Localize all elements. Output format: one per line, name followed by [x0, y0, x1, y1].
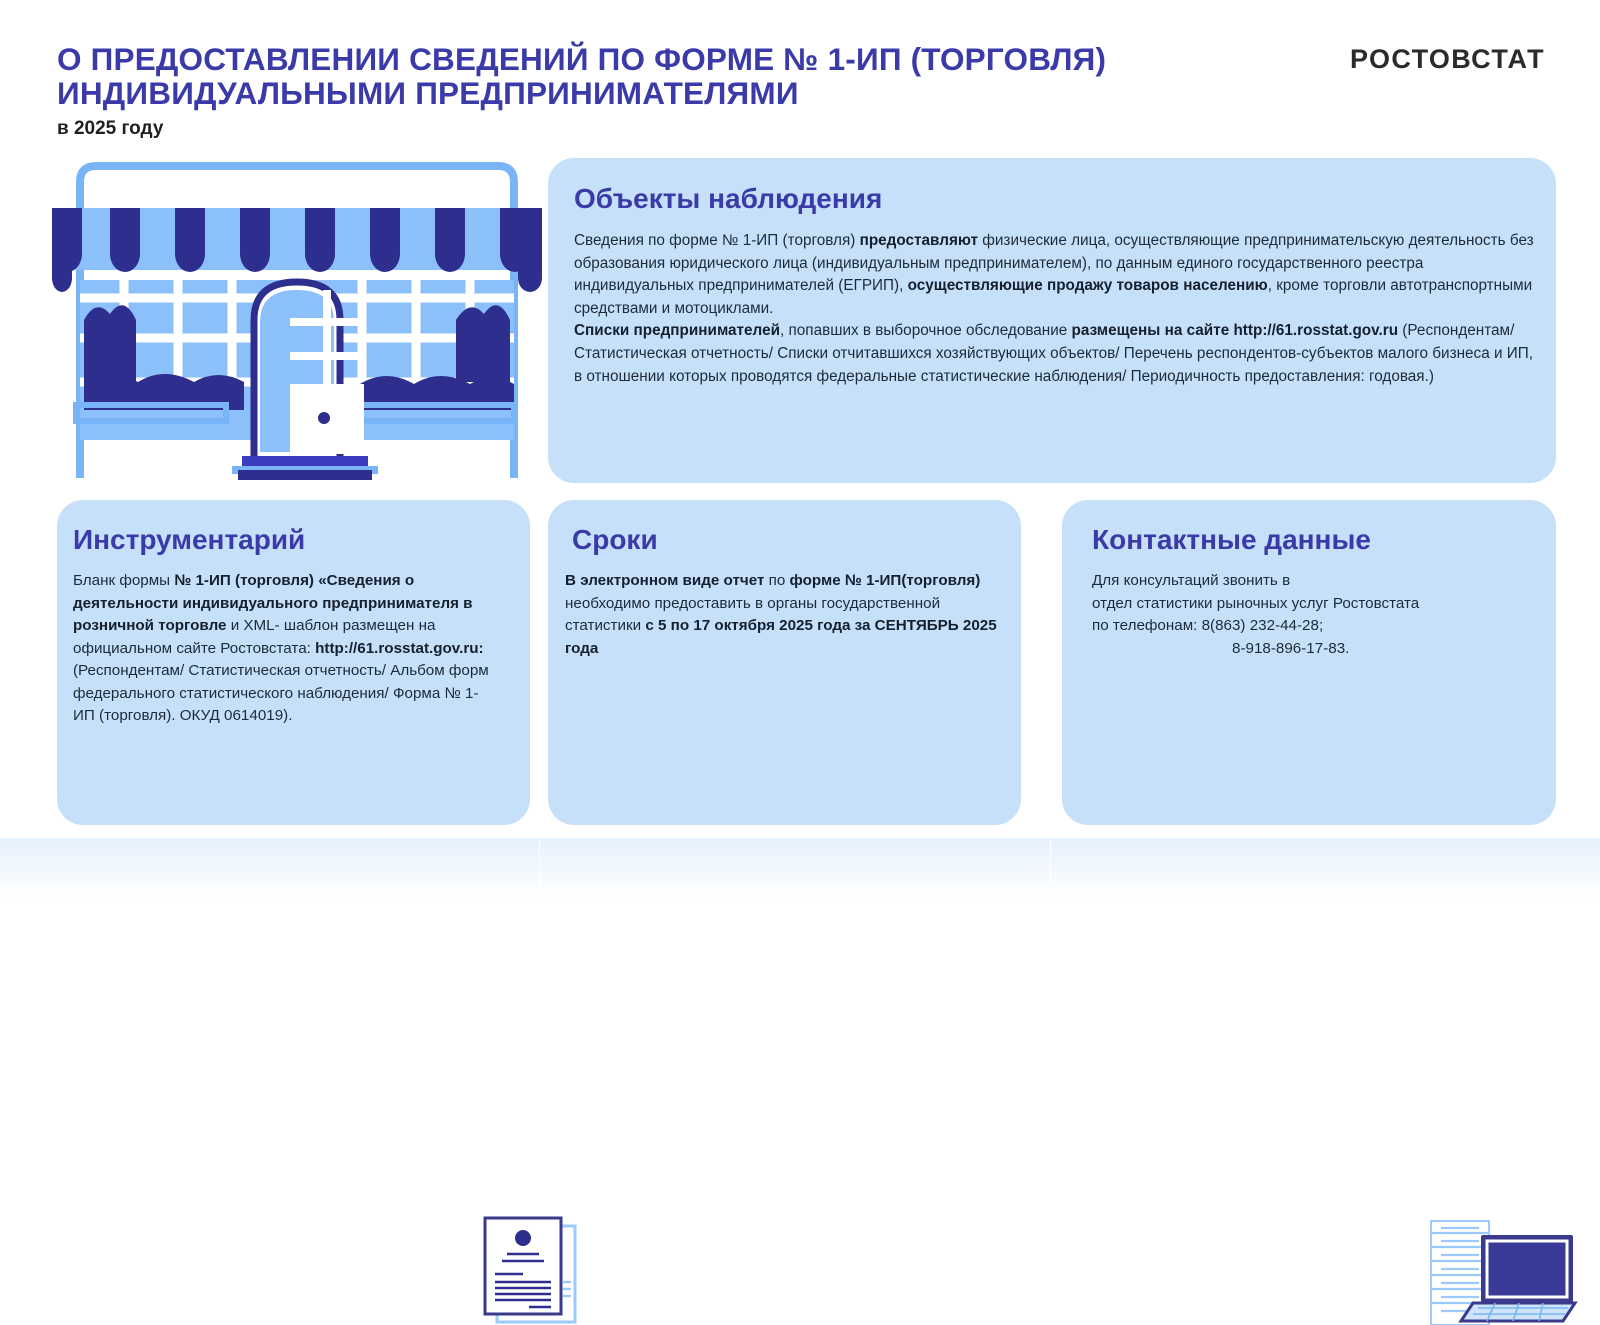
- obs-p2-c: размещены на сайте http://61.rosstat.gov…: [1072, 322, 1399, 339]
- tools-d-url: http://61.rosstat.gov.ru:: [315, 640, 483, 657]
- card-instrumentarij: Инструментарий Бланк формы № 1-ИП (торго…: [57, 500, 530, 825]
- laptop-documents-icon: [1423, 1207, 1578, 1325]
- card-observation-heading: Объекты наблюдения: [574, 183, 882, 215]
- obs-p1-d: осуществляющие продажу товаров населению: [908, 277, 1268, 294]
- card-tools-body: Бланк формы № 1-ИП (торговля) «Сведения …: [73, 570, 493, 728]
- obs-p2-b: , попавших в выборочное обследование: [780, 322, 1072, 339]
- card-terms-body: В электронном виде отчет по форме № 1-ИП…: [565, 570, 1010, 660]
- card-observation-objects: Объекты наблюдения Сведения по форме № 1…: [548, 158, 1556, 483]
- infographic-root: О ПРЕДОСТАВЛЕНИИ СВЕДЕНИЙ ПО ФОРМЕ № 1-И…: [0, 0, 1600, 899]
- obs-p1-a: Сведения по форме № 1-ИП (торговля): [574, 232, 860, 249]
- page-subtitle: в 2025 году: [57, 118, 1297, 140]
- obs-p2-a: Списки предпринимателей: [574, 322, 780, 339]
- contacts-line-1: Для консультаций звонить в: [1092, 570, 1532, 593]
- obs-p1-b: предоставляют: [860, 232, 978, 249]
- terms-a: В электронном виде отчет: [565, 572, 764, 589]
- title-line-1: О ПРЕДОСТАВЛЕНИИ СВЕДЕНИЙ ПО ФОРМЕ № 1-И…: [57, 42, 1297, 76]
- reflection-seam-2: [1050, 838, 1051, 899]
- storefront-illustration: [52, 160, 542, 482]
- card-sroki: Сроки В электронном виде отчет по форме …: [548, 500, 1021, 825]
- tools-a: Бланк формы: [73, 572, 174, 589]
- reflection-seam-1: [539, 838, 540, 899]
- card-kontaktnye-dannye: Контактные данные Для консультаций звони…: [1062, 500, 1556, 825]
- title-line-2: ИНДИВИДУАЛЬНЫМИ ПРЕДПРИНИМАТЕЛЯМИ: [57, 76, 1297, 110]
- terms-c: форме № 1-ИП(торговля): [790, 572, 981, 589]
- card-observation-body: Сведения по форме № 1-ИП (торговля) пред…: [574, 230, 1534, 388]
- terms-b: по: [764, 572, 789, 589]
- card-terms-heading: Сроки: [572, 524, 658, 556]
- rostovstat-logo: РОСТОВСТАТ: [1350, 44, 1545, 75]
- document-stack-icon: [471, 1212, 591, 1325]
- card-tools-heading: Инструментарий: [73, 524, 305, 556]
- page-title: О ПРЕДОСТАВЛЕНИИ СВЕДЕНИЙ ПО ФОРМЕ № 1-И…: [57, 42, 1297, 140]
- card-reflection: [0, 838, 1600, 899]
- contacts-phone-2: 8-918-896-17-83.: [1232, 638, 1349, 661]
- contacts-phone-1: по телефонам: 8(863) 232-44-28;: [1092, 615, 1532, 638]
- card-contacts-heading: Контактные данные: [1092, 524, 1371, 556]
- card-contacts-body: Для консультаций звонить в отдел статист…: [1092, 570, 1532, 660]
- tools-e: (Респондентам/ Статистическая отчетность…: [73, 662, 489, 724]
- contacts-line-2: отдел статистики рыночных услуг Ростовст…: [1092, 593, 1532, 616]
